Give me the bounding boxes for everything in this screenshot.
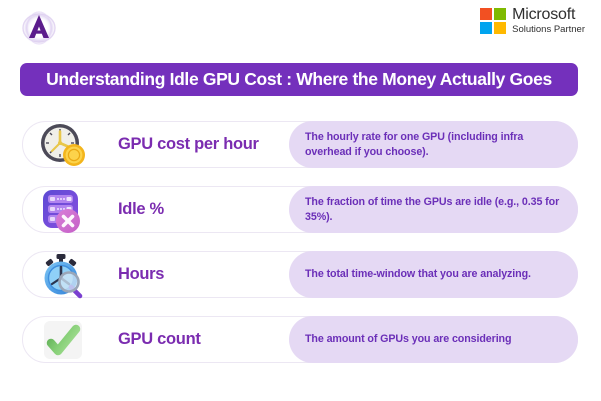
list-item: Hours The total time-window that you are… xyxy=(0,243,601,308)
microsoft-wordmark: Microsoft xyxy=(512,7,585,23)
definition-list: GPU cost per hour The hourly rate for on… xyxy=(0,113,601,373)
microsoft-square-red xyxy=(480,8,492,20)
row-description-pill: The hourly rate for one GPU (including i… xyxy=(289,121,578,168)
server-rack-x-icon xyxy=(34,182,90,238)
microsoft-badge-text: Microsoft Solutions Partner xyxy=(512,7,585,35)
microsoft-square-blue xyxy=(480,22,492,34)
row-description: The amount of GPUs you are considering xyxy=(305,332,511,346)
microsoft-square-yellow xyxy=(494,22,506,34)
row-description: The total time-window that you are analy… xyxy=(305,267,531,281)
row-label: GPU count xyxy=(118,316,201,363)
microsoft-logo-icon xyxy=(480,8,506,34)
list-item: GPU cost per hour The hourly rate for on… xyxy=(0,113,601,178)
microsoft-solutions-partner-badge: Microsoft Solutions Partner xyxy=(480,7,585,35)
microsoft-partner-subtitle: Solutions Partner xyxy=(512,25,585,35)
row-description-pill: The fraction of time the GPUs are idle (… xyxy=(289,186,578,233)
row-label: Idle % xyxy=(118,186,164,233)
row-label: GPU cost per hour xyxy=(118,121,259,168)
row-description: The hourly rate for one GPU (including i… xyxy=(305,130,564,159)
microsoft-square-green xyxy=(494,8,506,20)
green-checkmark-icon xyxy=(34,312,90,368)
row-description-pill: The amount of GPUs you are considering xyxy=(289,316,578,363)
page-title: Understanding Idle GPU Cost : Where the … xyxy=(46,69,552,90)
page-title-banner: Understanding Idle GPU Cost : Where the … xyxy=(20,63,578,96)
row-description-pill: The total time-window that you are analy… xyxy=(289,251,578,298)
row-label: Hours xyxy=(118,251,164,298)
list-item: GPU count The amount of GPUs you are con… xyxy=(0,308,601,373)
clock-coin-icon xyxy=(34,117,90,173)
stopwatch-magnifier-icon xyxy=(34,247,90,303)
list-item: Idle % The fraction of time the GPUs are… xyxy=(0,178,601,243)
row-description: The fraction of time the GPUs are idle (… xyxy=(305,195,564,224)
header-bar: Microsoft Solutions Partner xyxy=(0,0,601,55)
brand-logo-icon xyxy=(16,6,62,50)
